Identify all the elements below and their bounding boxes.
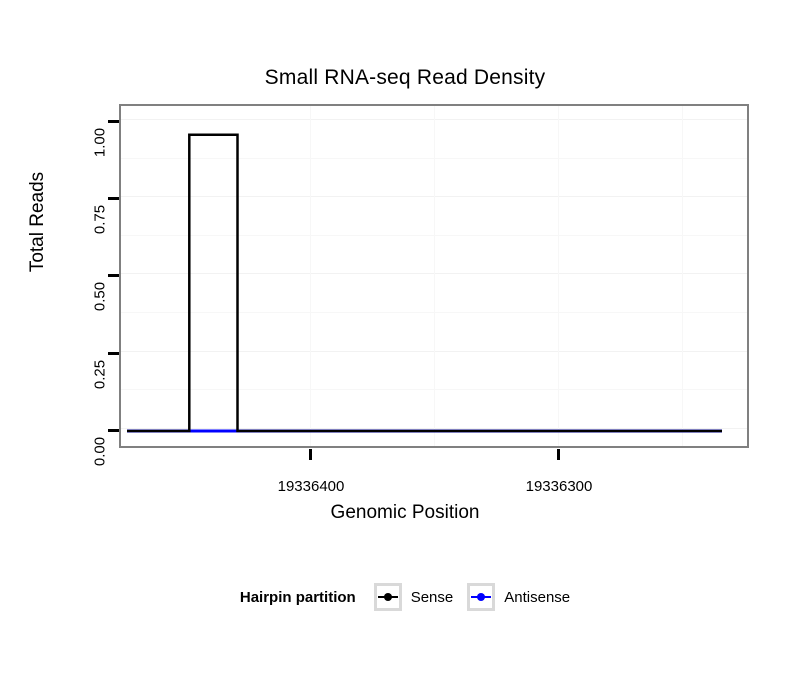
x-tick-mark-1 xyxy=(309,449,312,460)
y-tick-label-1: 1.00 xyxy=(92,123,109,163)
y-tick-label-4: 0.25 xyxy=(92,355,109,395)
y-tick-label-3: 0.50 xyxy=(92,277,109,317)
x-tick-label-1: 19336400 xyxy=(278,478,345,495)
y-axis-title: Total Reads xyxy=(27,172,49,272)
y-tick-label-2: 0.75 xyxy=(92,200,109,240)
y-tick-label-5: 0.00 xyxy=(92,432,109,472)
series-sense-line xyxy=(127,135,722,431)
chart-figure: Small RNA-seq Read Density Total Reads 1… xyxy=(0,0,810,690)
legend-label-antisense: Antisense xyxy=(504,589,570,606)
series-svg xyxy=(121,106,747,446)
y-tick-mark-4 xyxy=(108,352,119,355)
legend-key-sense-icon xyxy=(374,583,402,611)
data-series-layer xyxy=(121,106,747,446)
legend-item-antisense[interactable]: Antisense xyxy=(467,583,570,611)
x-axis-title: Genomic Position xyxy=(0,502,810,524)
x-tick-label-2: 19336300 xyxy=(526,478,593,495)
legend-item-sense[interactable]: Sense xyxy=(374,583,454,611)
legend-title: Hairpin partition xyxy=(240,589,356,606)
y-tick-mark-3 xyxy=(108,274,119,277)
chart-title: Small RNA-seq Read Density xyxy=(0,66,810,90)
y-tick-mark-1 xyxy=(108,120,119,123)
y-tick-mark-2 xyxy=(108,197,119,200)
plot-panel-inner xyxy=(121,106,747,446)
legend-label-sense: Sense xyxy=(411,589,454,606)
chart-legend: Hairpin partition Sense Antisense xyxy=(0,583,810,611)
legend-key-antisense-icon xyxy=(467,583,495,611)
y-tick-mark-5 xyxy=(108,429,119,432)
plot-panel xyxy=(119,104,749,448)
x-tick-mark-2 xyxy=(557,449,560,460)
